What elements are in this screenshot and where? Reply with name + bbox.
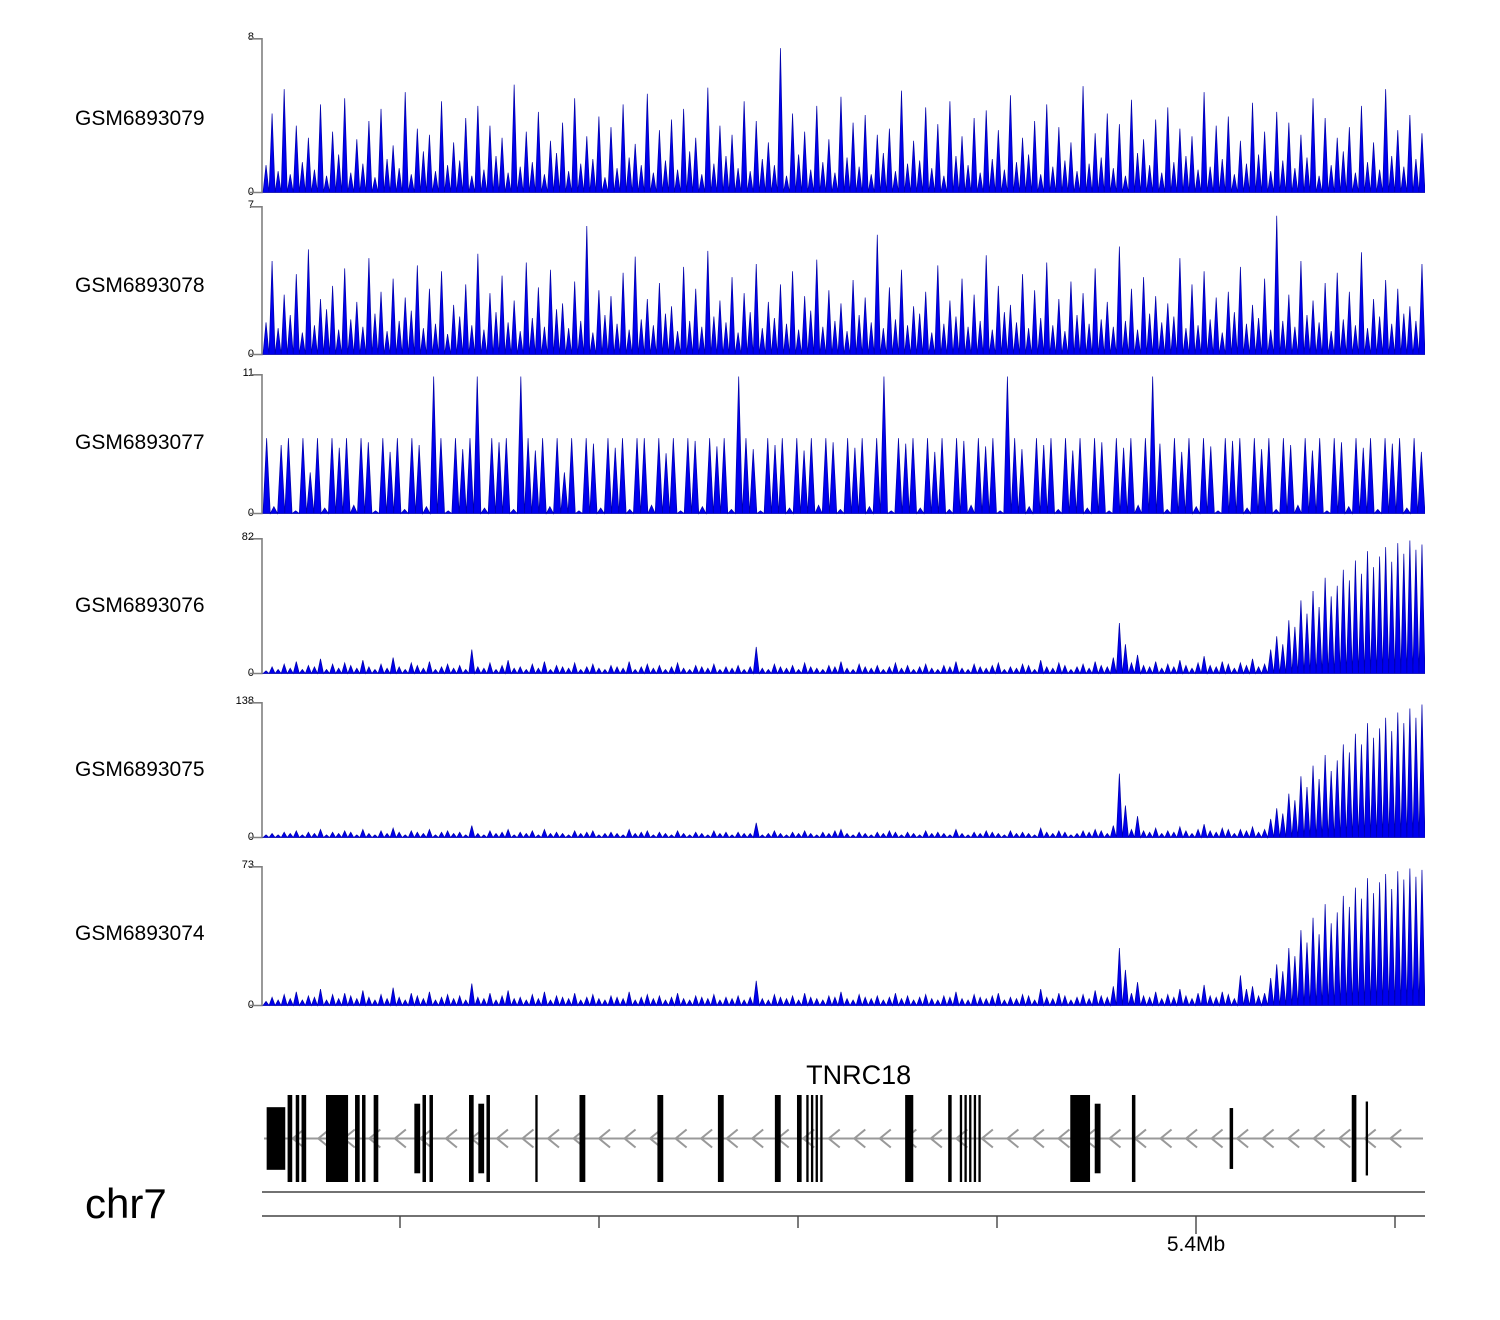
gene-exon: [1230, 1108, 1233, 1169]
coverage-track: GSM6893077110: [0, 360, 1500, 524]
genome-ruler: chr7 5.4Mb: [0, 1185, 1500, 1285]
coverage-plot: [250, 374, 1425, 516]
y-axis-min-label: 0: [210, 668, 254, 679]
ruler-svg: [262, 1190, 1425, 1235]
gene-exon: [374, 1095, 379, 1182]
coverage-area: [263, 377, 1425, 514]
gene-exon: [267, 1107, 286, 1170]
gene-exon: [964, 1095, 966, 1182]
ruler-tick-label: 5.4Mb: [1116, 1233, 1276, 1257]
coverage-track: GSM68930751380: [0, 688, 1500, 848]
coverage-track: GSM6893076820: [0, 524, 1500, 684]
y-axis-min-label: 0: [210, 832, 254, 843]
gene-exon: [978, 1095, 980, 1182]
gene-exon: [1366, 1102, 1368, 1176]
coverage-area: [263, 48, 1425, 192]
coverage-area: [263, 705, 1425, 838]
gene-exon: [960, 1095, 962, 1182]
y-axis-min-label: 0: [210, 349, 254, 360]
coverage-plot: [250, 38, 1425, 195]
y-axis-max-label: 82: [210, 532, 254, 543]
gene-exon: [974, 1095, 976, 1182]
coverage-plot: [250, 866, 1425, 1008]
y-axis-max-label: 8: [210, 32, 254, 43]
gene-exon: [362, 1095, 365, 1182]
gene-exon: [288, 1095, 293, 1182]
gene-exon: [302, 1095, 307, 1182]
gene-exon: [1070, 1095, 1090, 1182]
gene-exon: [429, 1095, 432, 1182]
y-axis-min-label: 0: [210, 1000, 254, 1011]
gene-exon: [1095, 1104, 1101, 1174]
track-sample-label: GSM6893075: [75, 758, 245, 782]
gene-exon: [478, 1104, 484, 1174]
gene-exon: [775, 1095, 781, 1182]
coverage-area: [263, 541, 1425, 674]
gene-exon: [905, 1095, 913, 1182]
gene-name-label: TNRC18: [109, 1060, 1500, 1091]
y-axis-max-label: 7: [210, 200, 254, 211]
gene-exon: [797, 1095, 802, 1182]
gene-exon: [1132, 1095, 1135, 1182]
gene-exon: [414, 1104, 420, 1174]
gene-exon: [580, 1095, 586, 1182]
coverage-plot: [250, 206, 1425, 357]
gene-annotation-track: TNRC18: [0, 1050, 1500, 1185]
track-sample-label: GSM6893076: [75, 594, 245, 618]
y-axis-spine: [250, 867, 262, 1006]
gene-model-svg: [262, 1092, 1425, 1185]
gene-exon: [296, 1095, 299, 1182]
gene-exon: [355, 1095, 360, 1182]
gene-exon: [820, 1095, 822, 1182]
gene-exon: [969, 1095, 971, 1182]
track-sample-label: GSM6893074: [75, 922, 245, 946]
gene-exon: [486, 1095, 489, 1182]
y-axis-max-label: 138: [210, 696, 254, 707]
y-axis-spine: [250, 539, 262, 674]
gene-exon: [469, 1095, 474, 1182]
gene-exon: [1352, 1095, 1357, 1182]
y-axis-spine: [250, 39, 262, 193]
gene-exon: [816, 1095, 818, 1182]
track-sample-label: GSM6893079: [75, 107, 245, 131]
gene-exon: [535, 1095, 537, 1182]
coverage-track: GSM689307870: [0, 192, 1500, 365]
track-sample-label: GSM6893077: [75, 431, 245, 455]
gene-exon: [718, 1095, 724, 1182]
y-axis-spine: [250, 207, 262, 355]
coverage-area: [263, 216, 1425, 355]
gene-exon: [948, 1095, 951, 1182]
gene-exon: [326, 1095, 348, 1182]
coverage-track: GSM6893074730: [0, 852, 1500, 1016]
y-axis-spine: [250, 703, 262, 838]
y-axis-max-label: 73: [210, 860, 254, 871]
coverage-plot: [250, 538, 1425, 676]
y-axis-spine: [250, 375, 262, 514]
gene-exon: [806, 1095, 808, 1182]
y-axis-min-label: 0: [210, 508, 254, 519]
coverage-track: GSM689307980: [0, 24, 1500, 203]
gene-exon: [811, 1095, 813, 1182]
coverage-plot: [250, 702, 1425, 840]
coverage-area: [263, 869, 1425, 1006]
track-sample-label: GSM6893078: [75, 274, 245, 298]
chromosome-label: chr7: [85, 1180, 167, 1228]
y-axis-max-label: 11: [210, 368, 254, 379]
genome-browser-figure: GSM689307980GSM689307870GSM6893077110GSM…: [0, 0, 1500, 1320]
gene-exon: [422, 1095, 425, 1182]
gene-exon: [657, 1095, 663, 1182]
